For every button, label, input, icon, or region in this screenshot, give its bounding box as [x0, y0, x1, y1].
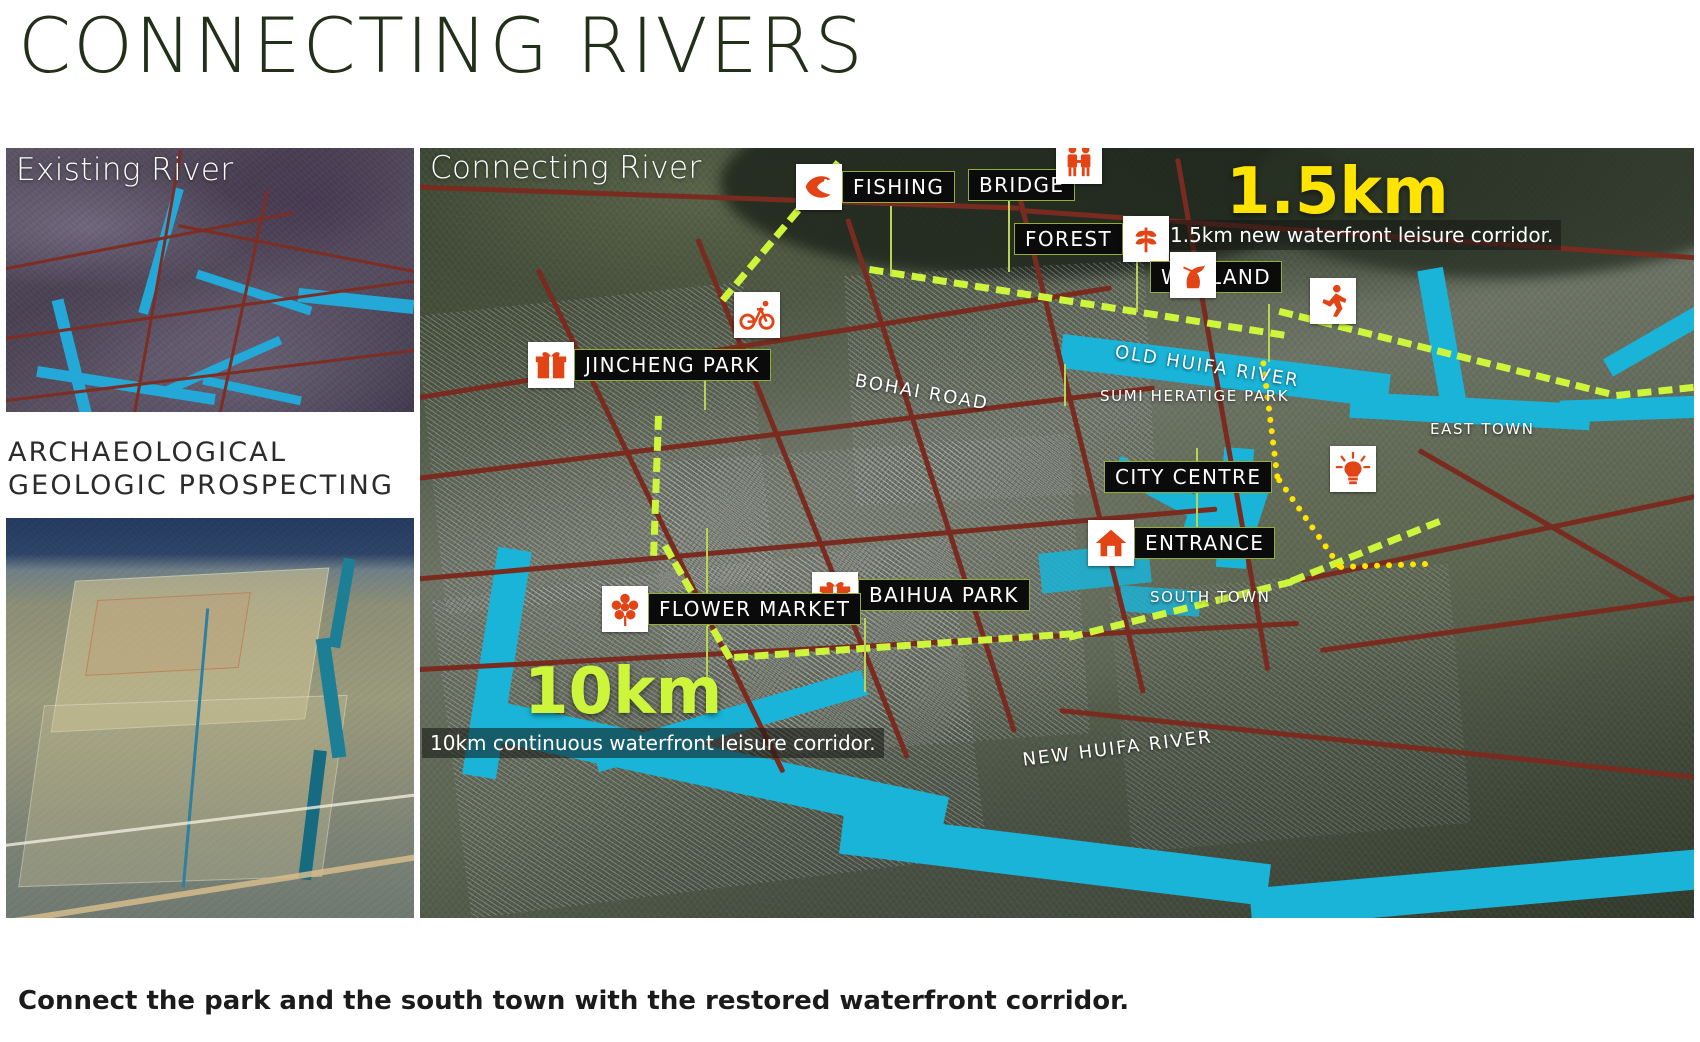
survey-field-outline — [18, 695, 347, 887]
marker-running[interactable] — [1310, 284, 1356, 318]
house-icon — [1088, 520, 1134, 566]
gift-icon — [528, 342, 574, 388]
marker-flower-market-label: FLOWER MARKET — [648, 593, 861, 625]
callout-10km-value: 10km — [524, 660, 722, 724]
marker-fishing[interactable]: FISHING — [796, 170, 955, 204]
footer-caption: Connect the park and the south town with… — [18, 986, 1129, 1016]
marker-forest-label: FOREST — [1014, 223, 1123, 255]
marker-fishing-label: FISHING — [842, 171, 955, 203]
leader-line — [1064, 364, 1066, 406]
marker-flower-market[interactable]: FLOWER MARKET — [602, 592, 861, 626]
marker-wetland-icon-tile[interactable] — [1170, 258, 1216, 292]
map-label-sumi-heritage-park: SUMI HERATIGE PARK — [1100, 387, 1289, 405]
marker-city-centre-icon-tile[interactable] — [1330, 452, 1376, 486]
panel-archaeological-prospecting: The old river — [6, 518, 414, 918]
marker-jincheng-park[interactable]: JINCHENG PARK — [528, 348, 771, 382]
callout-15km-value: 1.5km — [1226, 160, 1449, 224]
marker-city-centre[interactable]: CITY CENTRE — [1104, 460, 1272, 494]
marker-city-centre-label: CITY CENTRE — [1104, 461, 1272, 493]
leader-line — [1268, 304, 1270, 362]
leader-line — [890, 206, 892, 274]
marker-jincheng-park-label: JINCHENG PARK — [574, 349, 771, 381]
bird-icon — [1170, 252, 1216, 298]
map-label-south-town: SOUTH TOWN — [1150, 588, 1271, 606]
callout-10km-description: 10km continuous waterfront leisure corri… — [422, 728, 884, 758]
runner-icon — [1310, 278, 1356, 324]
marker-cycling[interactable] — [734, 298, 780, 332]
flower-icon — [602, 586, 648, 632]
marker-forest[interactable]: FOREST — [1014, 222, 1169, 256]
leaf-icon — [1123, 216, 1169, 262]
river-old-huifa — [1560, 395, 1694, 422]
panel-connecting-river-label: Connecting River — [430, 150, 702, 186]
archaeological-heading: ARCHAEOLOGICAL GEOLOGIC PROSPECTING — [8, 436, 408, 502]
connecting-river-map[interactable]: Connecting River OLD HUIFA RIVER NEW HUI… — [420, 148, 1694, 918]
fish-icon — [796, 164, 842, 210]
marker-entrance[interactable]: ENTRANCE — [1088, 526, 1275, 560]
survey-excavation-outline — [85, 592, 251, 676]
people-icon — [1056, 148, 1102, 184]
panel-existing-river-label: Existing River — [16, 152, 233, 188]
marker-entrance-label: ENTRANCE — [1134, 527, 1275, 559]
marker-baihua-park-label: BAIHUA PARK — [858, 579, 1030, 611]
leader-line — [864, 618, 866, 692]
archaeological-heading-line2: GEOLOGIC PROSPECTING — [8, 469, 408, 502]
callout-15km-description: 1.5km new waterfront leisure corridor. — [1162, 220, 1561, 250]
bicycle-icon — [734, 292, 780, 338]
lightbulb-icon — [1330, 446, 1376, 492]
map-label-east-town: EAST TOWN — [1430, 420, 1535, 438]
marker-people[interactable] — [1056, 148, 1102, 178]
archaeological-heading-line1: ARCHAEOLOGICAL — [8, 436, 408, 469]
panel-existing-river: Existing River — [6, 148, 414, 412]
page-title: CONNECTING RIVERS — [18, 0, 865, 94]
